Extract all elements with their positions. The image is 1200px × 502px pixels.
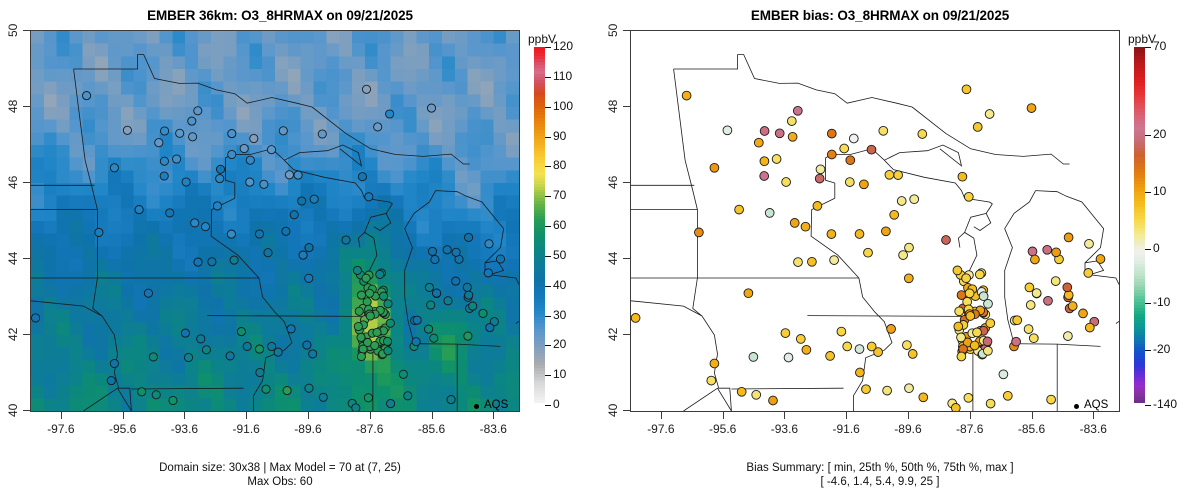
y-axis-tick-label: 44	[6, 244, 20, 272]
x-axis-tick-label: -91.6	[224, 422, 268, 436]
x-axis-tickmark	[308, 412, 309, 419]
colorbar-tick-label: 120	[553, 39, 573, 53]
colorbar-tickmark	[545, 345, 551, 346]
y-axis-tick-label: 42	[6, 320, 20, 348]
colorbar-tick-label: -140	[1153, 397, 1177, 411]
y-axis-tickmark	[23, 106, 30, 107]
colorbar-tick-label: 0	[553, 397, 560, 411]
aqs-legend-label: AQS	[484, 399, 508, 411]
panel-title-bias: EMBER bias: O3_8HRMAX on 09/21/2025	[600, 8, 1160, 23]
x-axis-tickmark	[784, 412, 785, 419]
y-axis-tickmark	[623, 106, 630, 107]
x-axis-tickmark	[908, 412, 909, 419]
colorbar-tick-label: 70	[1153, 39, 1166, 53]
y-axis-tickmark	[23, 410, 30, 411]
x-axis-tickmark	[246, 412, 247, 419]
map-frame-bias	[630, 30, 1120, 412]
x-axis-tickmark	[846, 412, 847, 419]
colorbar-units-bias: ppbV	[1128, 32, 1156, 46]
y-axis-tickmark	[23, 30, 30, 31]
y-axis-tickmark	[623, 30, 630, 31]
map-canvas-bias	[631, 31, 1119, 411]
x-axis-tickmark	[61, 412, 62, 419]
colorbar-tickmark	[545, 47, 551, 48]
colorbar-tick-label: 80	[553, 158, 566, 172]
y-axis-tickmark	[623, 334, 630, 335]
x-axis-tick-label: -97.6	[39, 422, 83, 436]
caption-bias-line2: [ -4.6, 1.4, 5.4, 9.9, 25 ]	[600, 476, 1160, 488]
x-axis-tick-label: -97.6	[639, 422, 683, 436]
colorbar-tick-label: 70	[553, 188, 566, 202]
y-axis-tickmark	[23, 182, 30, 183]
x-axis-tickmark	[1032, 412, 1033, 419]
colorbar-tick-label: 60	[553, 218, 566, 232]
x-axis-tickmark	[184, 412, 185, 419]
x-axis-tick-label: -89.6	[886, 422, 930, 436]
x-axis-tickmark	[970, 412, 971, 419]
y-axis-tick-label: 48	[6, 92, 20, 120]
colorbar-tick-label: 40	[553, 278, 566, 292]
aqs-legend-dot-bias	[1074, 404, 1079, 409]
colorbar-tick-label: 20	[553, 337, 566, 351]
colorbar-tick-label: 110	[553, 69, 572, 83]
x-axis-tickmark	[123, 412, 124, 419]
colorbar-tickmark	[545, 196, 551, 197]
map-canvas-model	[31, 31, 519, 411]
colorbar-tick-label: 10	[1153, 184, 1166, 198]
x-axis-tick-label: -93.6	[762, 422, 806, 436]
x-axis-tick-label: -93.6	[162, 422, 206, 436]
x-axis-tick-label: -83.6	[1071, 422, 1115, 436]
y-axis-tick-label: 42	[606, 320, 620, 348]
x-axis-tickmark	[370, 412, 371, 419]
colorbar-tickmark	[545, 226, 551, 227]
x-axis-tick-label: -91.6	[824, 422, 868, 436]
y-axis-tick-label: 46	[606, 168, 620, 196]
x-axis-tickmark	[432, 412, 433, 419]
x-axis-tick-label: -95.6	[701, 422, 745, 436]
colorbar-tickmark	[1145, 350, 1151, 351]
colorbar-tick-label: 100	[553, 99, 573, 113]
colorbar-tick-label: 30	[553, 308, 566, 322]
x-axis-tick-label: -89.6	[286, 422, 330, 436]
y-axis-tick-label: 44	[606, 244, 620, 272]
colorbar-tickmark	[545, 316, 551, 317]
colorbar-tickmark	[1145, 249, 1151, 250]
colorbar-tickmark	[545, 107, 551, 108]
caption-model-line1: Domain size: 30x38 | Max Model = 70 at (…	[0, 462, 560, 474]
colorbar-tick-label: -20	[1153, 342, 1170, 356]
map-frame-model	[30, 30, 520, 412]
y-axis-tick-label: 50	[606, 16, 620, 44]
y-axis-tickmark	[23, 334, 30, 335]
colorbar-tickmark	[1145, 303, 1151, 304]
aqs-legend-label-bias: AQS	[1084, 399, 1108, 411]
x-axis-tick-label: -85.6	[1010, 422, 1054, 436]
colorbar-tick-label: 10	[553, 367, 566, 381]
x-axis-tick-label: -83.6	[471, 422, 515, 436]
colorbar-tickmark	[545, 137, 551, 138]
y-axis-tick-label: 50	[6, 16, 20, 44]
panel-title-model: EMBER 36km: O3_8HRMAX on 09/21/2025	[0, 8, 560, 23]
caption-model-line2: Max Obs: 60	[0, 476, 560, 488]
y-axis-tick-label: 40	[606, 396, 620, 424]
colorbar-tickmark	[1145, 405, 1151, 406]
colorbar-tickmark	[545, 286, 551, 287]
colorbar-tickmark	[1145, 135, 1151, 136]
colorbar-tick-label: 20	[1153, 127, 1166, 141]
x-axis-tick-label: -87.6	[948, 422, 992, 436]
colorbar-tickmark	[545, 375, 551, 376]
colorbar-tickmark	[1145, 192, 1151, 193]
x-axis-tick-label: -95.6	[101, 422, 145, 436]
x-axis-tickmark	[723, 412, 724, 419]
colorbar-tick-label: -10	[1153, 295, 1170, 309]
x-axis-tickmark	[1093, 412, 1094, 419]
colorbar-units-model: ppbV	[528, 32, 556, 46]
x-axis-tick-label: -85.6	[410, 422, 454, 436]
y-axis-tickmark	[623, 182, 630, 183]
colorbar-tickmark	[545, 77, 551, 78]
x-axis-tickmark	[661, 412, 662, 419]
colorbar-tickmark	[1145, 47, 1151, 48]
x-axis-tickmark	[493, 412, 494, 419]
y-axis-tick-label: 48	[606, 92, 620, 120]
colorbar-tickmark	[545, 166, 551, 167]
colorbar-tickmark	[545, 405, 551, 406]
colorbar-tick-label: 0	[1153, 241, 1160, 255]
figure-root: EMBER 36km: O3_8HRMAX on 09/21/2025 AQS …	[0, 0, 1200, 502]
x-axis-tick-label: -87.6	[348, 422, 392, 436]
panel-model: EMBER 36km: O3_8HRMAX on 09/21/2025 AQS …	[0, 0, 600, 502]
aqs-legend-dot	[474, 404, 479, 409]
colorbar-tickmark	[545, 256, 551, 257]
y-axis-tickmark	[623, 258, 630, 259]
colorbar-tick-label: 50	[553, 248, 566, 262]
y-axis-tickmark	[623, 410, 630, 411]
y-axis-tick-label: 46	[6, 168, 20, 196]
y-axis-tickmark	[23, 258, 30, 259]
colorbar-tick-label: 90	[553, 129, 566, 143]
caption-bias-line1: Bias Summary: [ min, 25th %, 50th %, 75t…	[600, 462, 1160, 474]
panel-bias: EMBER bias: O3_8HRMAX on 09/21/2025 AQS …	[600, 0, 1200, 502]
y-axis-tick-label: 40	[6, 396, 20, 424]
